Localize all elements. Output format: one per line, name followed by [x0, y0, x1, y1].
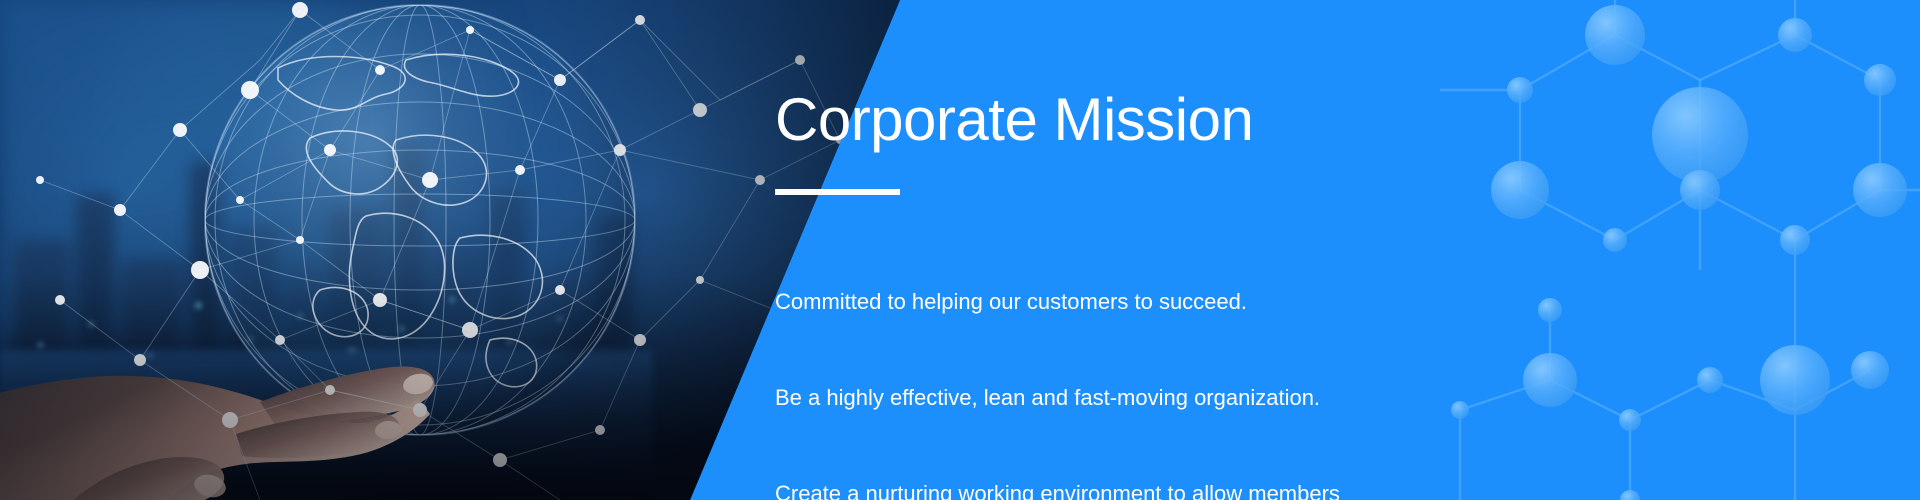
- banner-content: Corporate Mission Committed to helping o…: [775, 88, 1475, 500]
- page-title: Corporate Mission: [775, 88, 1475, 151]
- mission-line-2: Be a highly effective, lean and fast-mov…: [775, 382, 1475, 414]
- corporate-mission-banner: Corporate Mission Committed to helping o…: [0, 0, 1920, 500]
- mission-statement: Committed to helping our customers to su…: [775, 222, 1475, 500]
- molecule-pattern-decoration: [1400, 0, 1920, 500]
- title-divider: [775, 189, 900, 195]
- mission-line-3: Create a nurturing working environment t…: [775, 478, 1475, 500]
- mission-line-1: Committed to helping our customers to su…: [775, 286, 1475, 318]
